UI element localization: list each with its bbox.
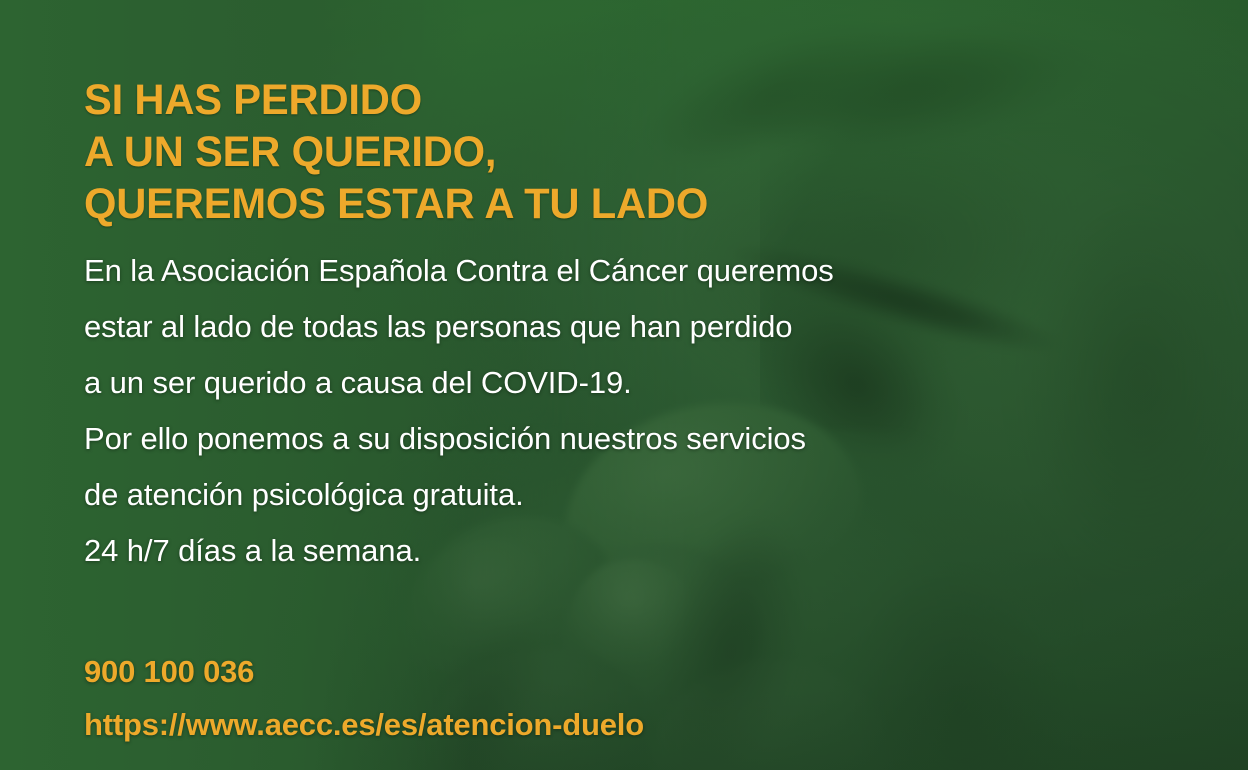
headline-line-3: QUEREMOS ESTAR A TU LADO [84,178,708,230]
contact-block: 900 100 036 https://www.aecc.es/es/atenc… [84,645,644,751]
headline-line-1: SI HAS PERDIDO [84,74,708,126]
body-line-4: Por ello ponemos a su disposición nuestr… [84,411,834,467]
aecc-grief-support-poster: SI HAS PERDIDO A UN SER QUERIDO, QUEREMO… [0,0,1248,770]
body-line-6: 24 h/7 días a la semana. [84,523,834,579]
body-line-2: estar al lado de todas las personas que … [84,299,834,355]
body-copy: En la Asociación Española Contra el Cánc… [84,243,834,579]
headline-line-2: A UN SER QUERIDO, [84,126,708,178]
poster-content: SI HAS PERDIDO A UN SER QUERIDO, QUEREMO… [84,0,1248,770]
website-url[interactable]: https://www.aecc.es/es/atencion-duelo [84,698,644,751]
body-line-3: a un ser querido a causa del COVID-19. [84,355,834,411]
headline: SI HAS PERDIDO A UN SER QUERIDO, QUEREMO… [84,74,708,230]
phone-number[interactable]: 900 100 036 [84,645,644,698]
body-line-5: de atención psicológica gratuita. [84,467,834,523]
body-line-1: En la Asociación Española Contra el Cánc… [84,243,834,299]
